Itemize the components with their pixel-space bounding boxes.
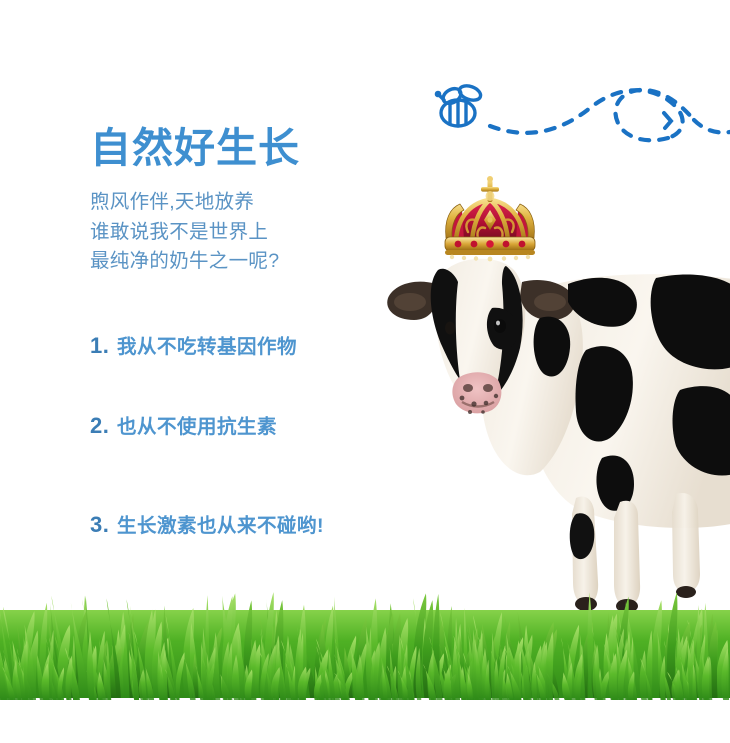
cow-eye-left <box>445 322 455 335</box>
copy-block: 自然好生长 煦风作伴,天地放养 谁敢说我不是世界上 最纯净的奶牛之一呢? <box>90 126 390 276</box>
claim-number: 1. <box>90 333 117 359</box>
list-item: 3. 生长激素也从来不碰哟! <box>90 509 400 538</box>
page-title: 自然好生长 <box>90 126 390 170</box>
claims-list: 1. 我从不吃转基因作物 2. 也从不使用抗生素 3. 生长激素也从来不碰哟! <box>90 330 400 538</box>
claim-number: 2. <box>90 413 117 439</box>
grass-strip <box>0 548 730 700</box>
claim-number: 3. <box>90 512 117 538</box>
dashed-flight-path <box>490 90 730 140</box>
bee-flight-graphic <box>432 68 730 173</box>
subtitle-line-2: 谁敢说我不是世界上 <box>90 218 390 247</box>
list-item: 2. 也从不使用抗生素 <box>90 410 400 509</box>
claim-text: 也从不使用抗生素 <box>117 410 277 439</box>
list-item: 1. 我从不吃转基因作物 <box>90 330 400 410</box>
bee-icon <box>436 83 482 126</box>
claim-text: 生长激素也从来不碰哟! <box>117 509 324 538</box>
subtitle-line-1: 煦风作伴,天地放养 <box>90 188 390 217</box>
cow-eye-right <box>494 319 506 333</box>
crown-cross <box>481 176 499 202</box>
claim-text: 我从不吃转基因作物 <box>117 330 297 359</box>
subtitle-line-3: 最纯净的奶牛之一呢? <box>90 247 390 276</box>
subtitle: 煦风作伴,天地放养 谁敢说我不是世界上 最纯净的奶牛之一呢? <box>90 170 390 276</box>
crown-icon <box>434 176 546 268</box>
promo-banner: 自然好生长 煦风作伴,天地放养 谁敢说我不是世界上 最纯净的奶牛之一呢? 1. … <box>0 0 730 743</box>
